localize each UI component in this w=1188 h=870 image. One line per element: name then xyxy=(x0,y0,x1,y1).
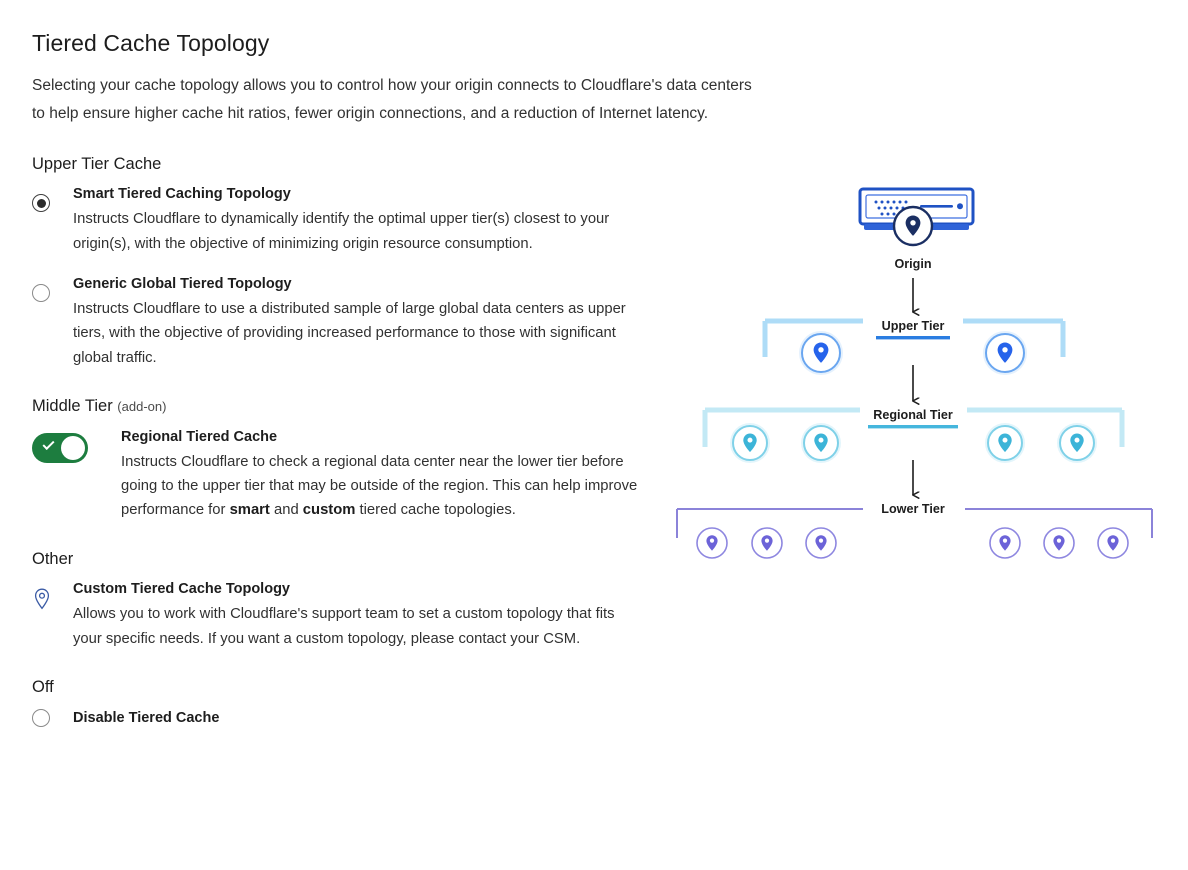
section-heading-upper-tier: Upper Tier Cache xyxy=(32,155,642,175)
lower-tier-node xyxy=(697,528,727,558)
lower-tier-node xyxy=(806,528,836,558)
option-custom-tiered-cache[interactable]: Custom Tiered Cache Topology Allows you … xyxy=(32,579,642,651)
option-title: Smart Tiered Caching Topology xyxy=(73,184,642,205)
option-title: Regional Tiered Cache xyxy=(121,427,642,448)
page-description-line-1: Selecting your cache topology allows you… xyxy=(32,77,752,94)
toggle-regional-tiered-cache[interactable] xyxy=(32,433,88,463)
diagram-label-upper-tier: Upper Tier xyxy=(882,319,945,333)
section-heading-off: Off xyxy=(32,678,642,698)
option-description-part-3: tiered cache topologies. xyxy=(355,502,515,518)
option-description: Instructs Cloudflare to use a distribute… xyxy=(73,297,642,370)
lower-tier-node xyxy=(1044,528,1074,558)
page-description: Selecting your cache topology allows you… xyxy=(32,72,642,128)
origin-pin-icon xyxy=(894,207,932,245)
radio-smart-tiered-caching[interactable] xyxy=(32,194,50,212)
section-heading-middle-tier: Middle Tier (add-on) xyxy=(32,397,642,417)
option-description: Instructs Cloudflare to dynamically iden… xyxy=(73,207,642,256)
toggle-knob xyxy=(61,436,85,460)
section-heading-text: Middle Tier xyxy=(32,397,113,415)
regional-tier-node xyxy=(801,423,841,463)
diagram-label-origin: Origin xyxy=(894,257,931,271)
option-description: Allows you to work with Cloudflare's sup… xyxy=(73,602,642,651)
option-title: Custom Tiered Cache Topology xyxy=(73,579,642,600)
diagram-label-lower-tier: Lower Tier xyxy=(881,502,945,516)
radio-disable-tiered-cache[interactable] xyxy=(32,709,50,727)
upper-tier-node xyxy=(983,331,1027,375)
tiered-cache-topology-diagram: Origin Upper Tier xyxy=(655,175,1175,595)
page-description-line-2: to help ensure higher cache hit ratios, … xyxy=(32,105,708,122)
option-generic-global-tiered[interactable]: Generic Global Tiered Topology Instructs… xyxy=(32,274,642,370)
section-heading-addon: (add-on) xyxy=(117,399,166,414)
lower-tier-node xyxy=(752,528,782,558)
map-pin-icon xyxy=(32,587,52,611)
option-description-bold-custom: custom xyxy=(303,502,356,518)
diagram-label-regional-tier: Regional Tier xyxy=(873,408,953,422)
underline-regional-tier xyxy=(868,425,958,428)
option-description: Instructs Cloudflare to check a regional… xyxy=(121,450,642,523)
regional-tier-node xyxy=(1057,423,1097,463)
option-description-part-2: and xyxy=(270,502,303,518)
option-disable-tiered-cache[interactable]: Disable Tiered Cache xyxy=(32,708,642,731)
option-title: Generic Global Tiered Topology xyxy=(73,274,642,295)
check-icon xyxy=(42,438,54,450)
tiered-cache-topology-page: Tiered Cache Topology Selecting your cac… xyxy=(0,0,1188,870)
upper-tier-node xyxy=(799,331,843,375)
option-smart-tiered-caching[interactable]: Smart Tiered Caching Topology Instructs … xyxy=(32,184,642,256)
regional-tier-node xyxy=(985,423,1025,463)
regional-tier-node xyxy=(730,423,770,463)
settings-column: Tiered Cache Topology Selecting your cac… xyxy=(32,30,642,749)
option-title: Disable Tiered Cache xyxy=(73,708,642,729)
option-description-bold-smart: smart xyxy=(230,502,270,518)
lower-tier-node xyxy=(1098,528,1128,558)
underline-upper-tier xyxy=(876,336,950,339)
radio-generic-global-tiered[interactable] xyxy=(32,284,50,302)
option-regional-tiered-cache[interactable]: Regional Tiered Cache Instructs Cloudfla… xyxy=(32,427,642,523)
page-title: Tiered Cache Topology xyxy=(32,30,642,58)
lower-tier-node xyxy=(990,528,1020,558)
section-heading-other: Other xyxy=(32,550,642,570)
